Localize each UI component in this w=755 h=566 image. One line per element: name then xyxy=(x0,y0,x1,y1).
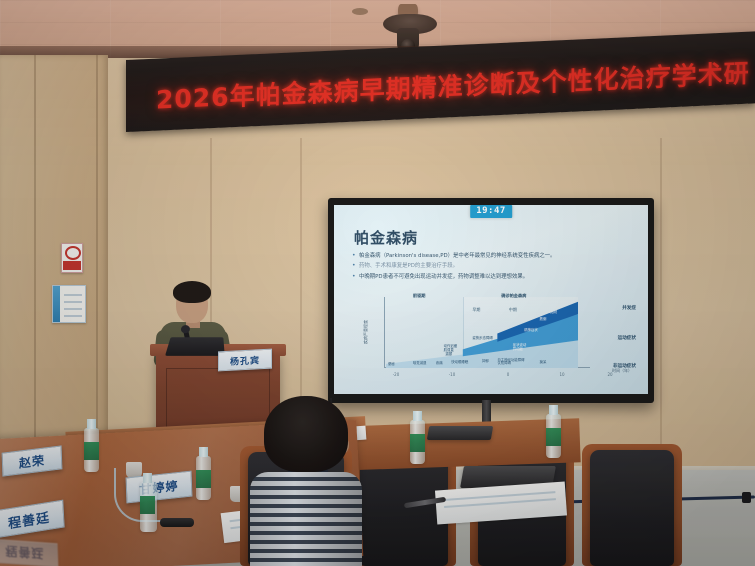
conference-room-photo: 2026年帕金森病早期精准诊断及个性化治疗学术研 19:47 帕金森病 帕金森病… xyxy=(0,0,755,566)
slide-bullet: 中晚期PD患者不可避免出现运动并发症，药物调整难以达到理想效果。 xyxy=(352,272,634,282)
chart-plot-area: 便秘 嗅觉减退 疼痛 快动眼睡眠 抑郁 认知障碍 自主神经功能障碍 痴呆 动作迟… xyxy=(386,299,578,368)
chair-back[interactable] xyxy=(590,450,674,566)
sign-caption-bar xyxy=(63,261,81,270)
chart-legend-nonmotor: 非运动症状 xyxy=(613,363,636,369)
prohibition-icon xyxy=(65,246,81,260)
banner-title-text: 2026年帕金森病早期精准诊断及个性化治疗学术研 xyxy=(156,54,750,117)
microphone-base xyxy=(160,518,194,527)
table-nameplate-text: 程善廷 xyxy=(8,506,51,531)
water-bottle[interactable] xyxy=(196,456,211,500)
audience-shading xyxy=(250,472,362,566)
chart-symptom-label: 姿势步态障碍 xyxy=(472,336,492,341)
chart-x-tick: -10 xyxy=(449,372,456,377)
notice-line xyxy=(64,301,82,303)
wall-seam xyxy=(660,138,662,468)
smoke-detector-icon xyxy=(352,8,368,15)
lectern-nameplate: 杨孔宾 xyxy=(218,349,272,372)
notice-stripe xyxy=(53,286,60,322)
wall-notice-sign xyxy=(52,285,86,323)
display-screen: 19:47 帕金森病 帕金森病（Parkinson's disease,PD）是… xyxy=(334,205,648,394)
slide-timer-badge: 19:47 xyxy=(470,205,512,218)
slide-content: 19:47 帕金森病 帕金森病（Parkinson's disease,PD）是… xyxy=(334,205,648,394)
water-bottle[interactable] xyxy=(84,428,99,472)
audience-head xyxy=(264,396,348,472)
chart-symptom-label: 异动症 xyxy=(513,347,523,352)
slide-bullet: 帕金森病（Parkinson's disease,PD）是中老年最常见的神经系统… xyxy=(352,251,634,261)
chart-stage-header: 前驱期 xyxy=(413,293,426,299)
chart-substage-label: 中期 xyxy=(509,307,517,313)
notice-line xyxy=(64,294,82,296)
lectern-nameplate-text: 杨孔宾 xyxy=(230,353,260,368)
chart-symptom-label: 震颤 xyxy=(446,352,453,357)
chart-legend-complications: 并发症 xyxy=(622,305,636,311)
notice-line xyxy=(64,315,82,317)
wall-seam xyxy=(34,55,36,485)
chart-y-axis-label: 疾病严重程度 xyxy=(363,320,369,344)
presentation-display[interactable]: 19:47 帕金森病 帕金森病（Parkinson's disease,PD）是… xyxy=(328,198,654,403)
chart-substage-label: 晚期 xyxy=(549,309,557,315)
disease-progression-chart: 疾病严重程度 便秘 嗅觉减退 疼痛 快动眼睡眠 抑郁 认 xyxy=(348,289,640,386)
table-nameplate-reflection: 程善廷 xyxy=(0,539,58,566)
slide-bullet-list: 帕金森病（Parkinson's disease,PD）是中老年最常见的神经系统… xyxy=(352,251,634,282)
chart-symptom-label: 自主神经功能障碍 xyxy=(497,358,524,363)
chart-x-tick: 0 xyxy=(507,372,510,377)
chart-symptom-label: 便秘 xyxy=(388,362,395,367)
chart-x-tick: 10 xyxy=(559,372,564,377)
water-bottle[interactable] xyxy=(546,414,561,458)
chart-symptom-label: 跌倒 xyxy=(540,317,547,322)
cable-clip xyxy=(742,492,751,503)
chart-substage-label: 早期 xyxy=(472,307,480,313)
table-equipment-box xyxy=(427,426,493,440)
chart-x-tick: -20 xyxy=(393,372,400,377)
chart-symptom-label: 痴呆 xyxy=(540,360,547,365)
chart-symptom-label: 嗅觉减退 xyxy=(413,361,427,366)
chart-stage-header: 确诊帕金森病 xyxy=(501,293,526,299)
table-nameplate-text: 赵荣 xyxy=(19,451,46,471)
wall-seam xyxy=(96,55,98,485)
chart-legend-motor: 运动症状 xyxy=(618,335,636,341)
speaker-hair xyxy=(173,281,211,303)
water-bottle[interactable] xyxy=(410,420,425,464)
slide-title: 帕金森病 xyxy=(354,227,418,248)
chart-symptom-label: 精神症状 xyxy=(524,328,538,333)
table-nameplate-reflection-text: 程善廷 xyxy=(5,543,45,563)
chart-y-axis xyxy=(384,297,385,368)
fire-safety-sign xyxy=(61,243,83,273)
water-bottle[interactable] xyxy=(140,482,157,532)
slide-bullet: 药物、手术和康复是PD的主要治疗手段。 xyxy=(352,261,634,271)
chart-symptom-label: 快动眼睡眠 xyxy=(451,360,468,365)
notice-line xyxy=(64,308,82,310)
chart-symptom-label: 疼痛 xyxy=(436,361,443,366)
chart-symptom-label: 抑郁 xyxy=(482,359,489,364)
lectern-laptop[interactable] xyxy=(165,337,225,356)
